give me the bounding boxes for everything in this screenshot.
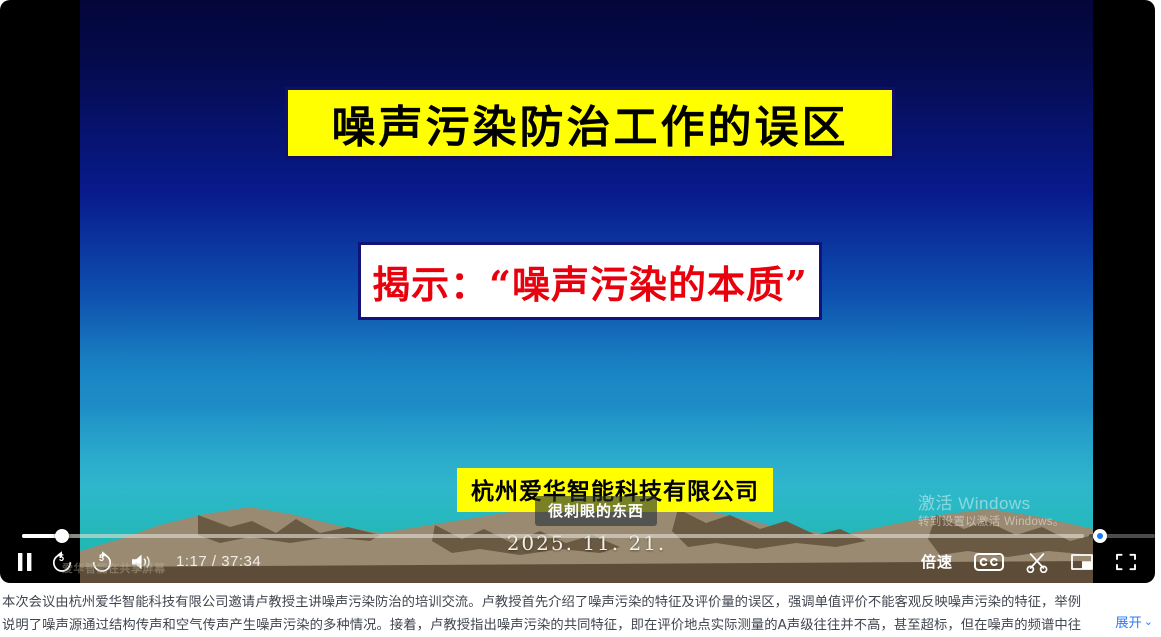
- video-description-text: 本次会议由杭州爱华智能科技有限公司邀请卢教授主讲噪声污染防治的培训交流。卢教授首…: [2, 591, 1153, 637]
- scissors-icon: [1025, 551, 1049, 573]
- slide-subtitle-box: 揭示：“噪声污染的本质”: [358, 242, 822, 320]
- slide-title-box: 噪声污染防治工作的误区: [285, 87, 895, 159]
- video-description: 本次会议由杭州爱华智能科技有限公司邀请卢教授主讲噪声污染防治的培训交流。卢教授首…: [0, 589, 1161, 637]
- player-controls-left: 5 5 1:17 / 37:34: [0, 550, 261, 574]
- fullscreen-icon: [1115, 552, 1137, 572]
- pip-icon: [1070, 552, 1094, 572]
- video-caption-text: 很刺眼的东西: [548, 502, 644, 520]
- clip-button[interactable]: [1025, 551, 1049, 573]
- video-player[interactable]: 噪声污染防治工作的误区 揭示：“噪声污染的本质” 杭州爱华智能科技有限公司 很刺…: [0, 0, 1155, 583]
- pause-icon: [16, 552, 34, 572]
- rewind-5-button[interactable]: 5: [50, 550, 74, 574]
- expand-description-label: 展开: [1115, 612, 1142, 631]
- video-frame[interactable]: 噪声污染防治工作的误区 揭示：“噪声污染的本质” 杭州爱华智能科技有限公司 很刺…: [80, 0, 1093, 583]
- player-control-bar[interactable]: 5 5 1:17 / 37:34: [0, 540, 1155, 583]
- chevron-down-icon: ⌄: [1144, 616, 1153, 627]
- expand-description-button[interactable]: 展开 ⌄: [1105, 612, 1153, 631]
- forward-5-button[interactable]: 5: [90, 550, 114, 574]
- volume-button[interactable]: [130, 552, 154, 572]
- captions-button[interactable]: [974, 552, 1004, 572]
- volume-icon: [130, 552, 154, 572]
- progress-bar-track[interactable]: [22, 534, 1084, 538]
- volume-slider-track[interactable]: [1089, 534, 1155, 538]
- cc-icon: [974, 552, 1004, 572]
- time-display: 1:17 / 37:34: [176, 554, 261, 569]
- fullscreen-button[interactable]: [1115, 552, 1137, 572]
- video-caption: 很刺眼的东西: [535, 496, 657, 526]
- slide-title-text: 噪声污染防治工作的误区: [332, 91, 849, 155]
- slide-subtitle-text: 揭示：“噪声污染的本质”: [372, 254, 808, 309]
- pause-button[interactable]: [16, 552, 34, 572]
- picture-in-picture-button[interactable]: [1070, 552, 1094, 572]
- player-controls-right: 倍速: [921, 551, 1155, 573]
